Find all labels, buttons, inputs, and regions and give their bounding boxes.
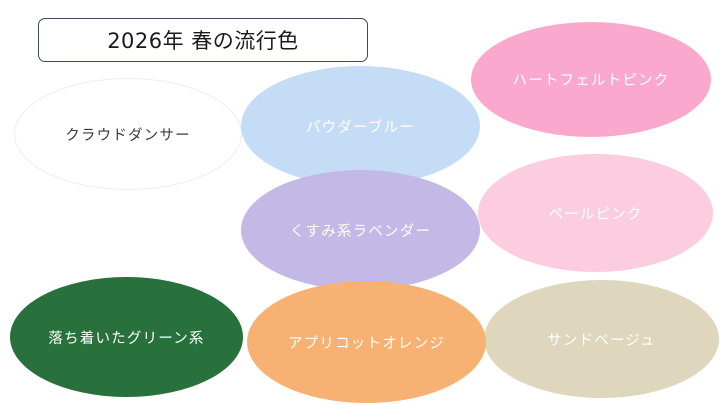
color-swatch-label: サンドベージュ [547,329,656,350]
color-swatch-label: アプリコットオレンジ [288,332,445,353]
color-swatch-label: 落ち着いたグリーン系 [48,327,204,348]
color-swatch-powder-blue[interactable]: パウダーブルー [241,66,480,186]
color-swatch-label: くすみ系ラベンダー [290,220,431,241]
slide-title-box: 2026年 春の流行色 [38,18,368,62]
slide-canvas: 2026年 春の流行色 クラウドダンサー パウダーブルー ハートフェルトピンク … [0,0,720,405]
color-swatch-calm-green[interactable]: 落ち着いたグリーン系 [10,277,243,397]
color-swatch-heartfelt-pink[interactable]: ハートフェルトピンク [471,22,711,137]
color-swatch-label: ハートフェルトピンク [513,69,670,90]
color-swatch-label: パウダーブルー [306,116,415,137]
color-swatch-sand-beige[interactable]: サンドベージュ [484,280,719,398]
color-swatch-label: ペールピンク [548,203,642,224]
color-swatch-cloud-dancer[interactable]: クラウドダンサー [14,78,242,190]
color-swatch-apricot-orange[interactable]: アプリコットオレンジ [247,281,486,403]
color-swatch-label: クラウドダンサー [65,124,191,145]
color-swatch-pale-pink[interactable]: ペールピンク [478,154,713,272]
page-title: 2026年 春の流行色 [107,25,299,55]
color-swatch-muted-lavender[interactable]: くすみ系ラベンダー [241,170,480,290]
